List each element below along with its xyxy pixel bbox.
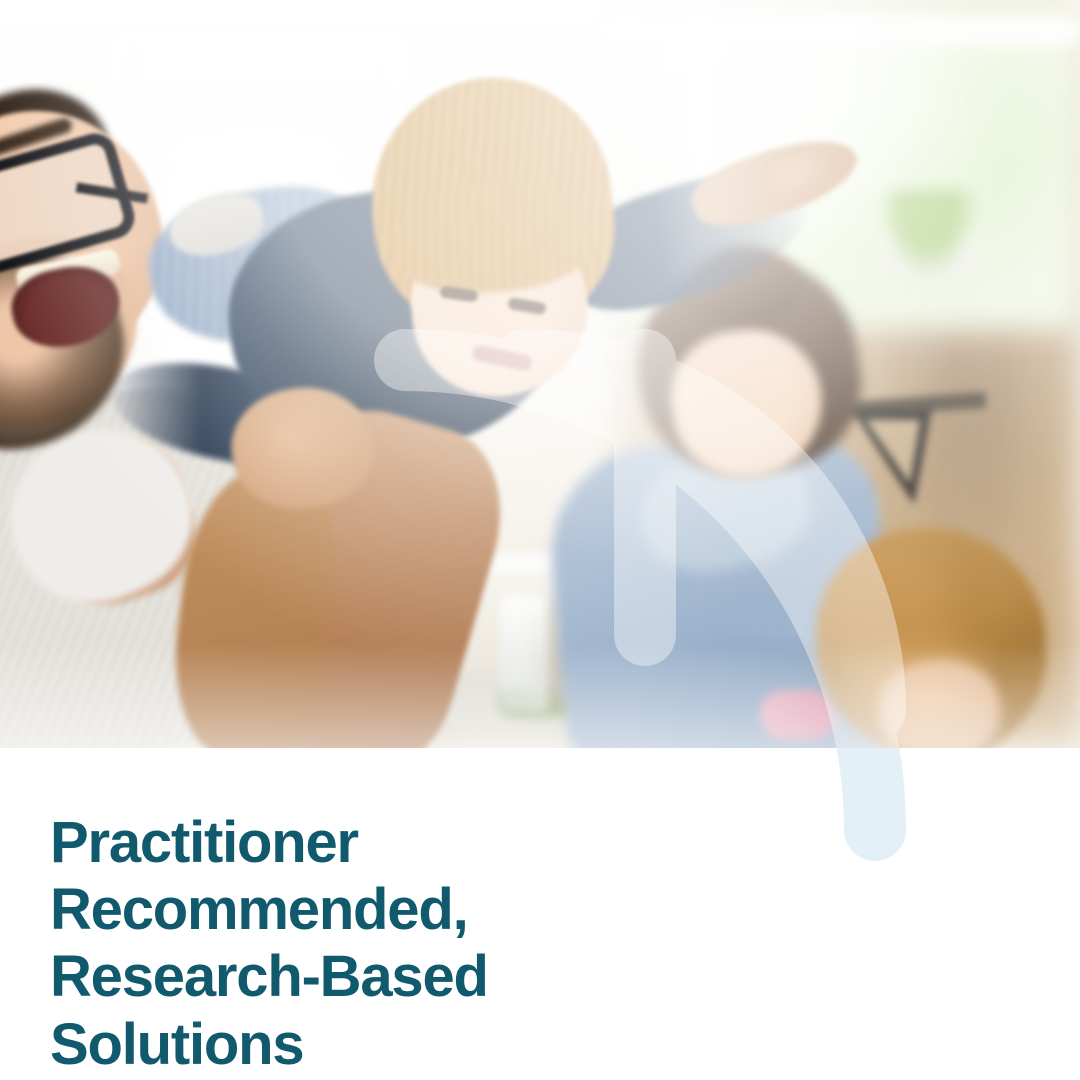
social-graphic-card: Practitioner Recommended, Research-Based… bbox=[0, 0, 1080, 1080]
headline-line-3: Research-Based bbox=[50, 943, 670, 1010]
drinking-glass bbox=[500, 595, 548, 713]
child-toy bbox=[760, 690, 836, 740]
page-title: Practitioner Recommended, Research-Based… bbox=[50, 809, 670, 1078]
curly-child-face bbox=[880, 660, 1000, 748]
headline-line-1: Practitioner bbox=[50, 809, 670, 876]
headline-line-2: Recommended, bbox=[50, 876, 670, 943]
shelf-bracket-opening bbox=[866, 420, 920, 484]
window-frame-horizontal bbox=[600, 18, 1080, 44]
hero-photo bbox=[0, 0, 1080, 748]
potted-plant bbox=[880, 190, 976, 276]
headline-line-4: Solutions bbox=[50, 1011, 670, 1078]
